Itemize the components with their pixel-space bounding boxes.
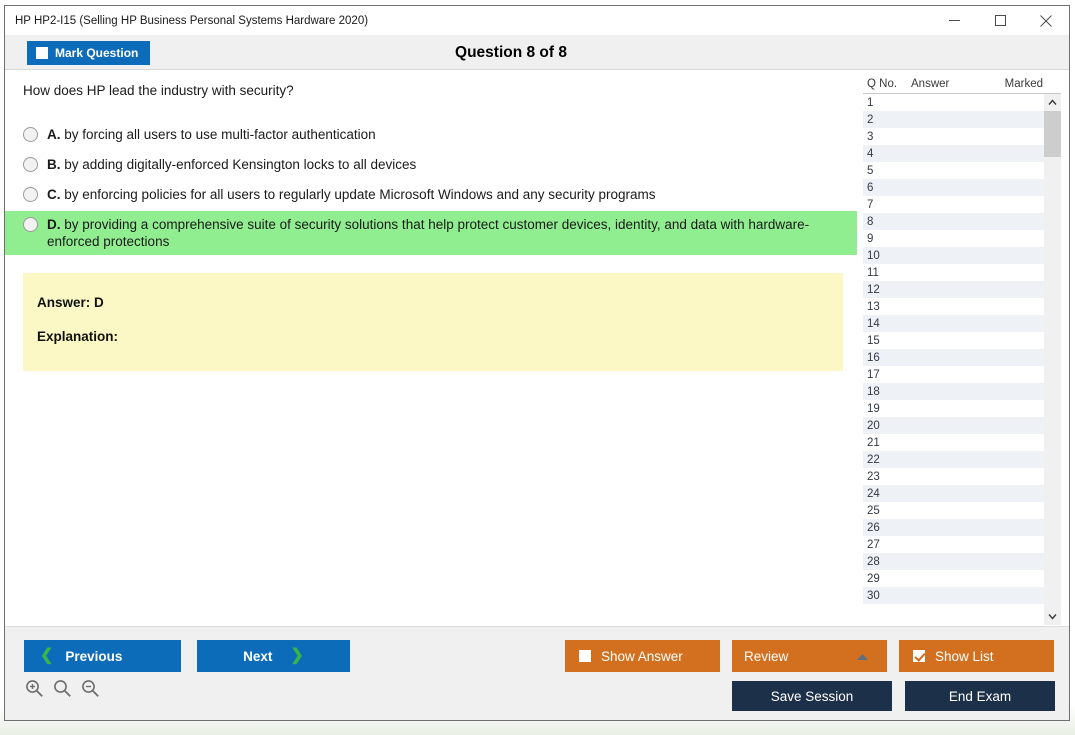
- option-radio-c[interactable]: [23, 187, 38, 202]
- chevron-up-icon: [1048, 99, 1057, 106]
- question-list-row[interactable]: 3: [863, 128, 1044, 145]
- question-list-row[interactable]: 24: [863, 485, 1044, 502]
- scrollbar-thumb[interactable]: [1044, 111, 1061, 157]
- question-list-row[interactable]: 2: [863, 111, 1044, 128]
- row-question-number: 2: [867, 114, 911, 126]
- show-answer-checkbox[interactable]: [579, 650, 591, 662]
- title-bar: HP HP2-I15 (Selling HP Business Personal…: [5, 6, 1069, 36]
- row-question-number: 3: [867, 131, 911, 143]
- question-list-row[interactable]: 4: [863, 145, 1044, 162]
- scroll-down-button[interactable]: [1044, 608, 1061, 625]
- mark-question-checkbox[interactable]: [36, 47, 48, 59]
- zoom-out-icon[interactable]: [81, 679, 100, 703]
- question-list-row[interactable]: 6: [863, 179, 1044, 196]
- zoom-reset-icon[interactable]: [53, 679, 72, 703]
- row-question-number: 13: [867, 301, 911, 313]
- row-question-number: 10: [867, 250, 911, 262]
- window-controls: [931, 6, 1069, 36]
- question-list-row[interactable]: 25: [863, 502, 1044, 519]
- option-text: C. by enforcing policies for all users t…: [47, 186, 656, 203]
- question-list-row[interactable]: 16: [863, 349, 1044, 366]
- zoom-in-icon[interactable]: [25, 679, 44, 703]
- question-list-row[interactable]: 13: [863, 298, 1044, 315]
- row-question-number: 7: [867, 199, 911, 211]
- row-question-number: 29: [867, 573, 911, 585]
- option-radio-a[interactable]: [23, 127, 38, 142]
- question-text: How does HP lead the industry with secur…: [5, 82, 857, 100]
- column-header-q-no: Q No.: [867, 78, 911, 90]
- question-list-row[interactable]: 19: [863, 400, 1044, 417]
- question-counter: Question 8 of 8: [0, 44, 1043, 62]
- row-question-number: 16: [867, 352, 911, 364]
- question-list-row[interactable]: 23: [863, 468, 1044, 485]
- close-icon: [1040, 15, 1052, 27]
- footer-toolbar: ❮ Previous Next ❯ Show Answer Review Sho…: [5, 626, 1069, 720]
- row-question-number: 25: [867, 505, 911, 517]
- end-exam-label: End Exam: [949, 689, 1011, 704]
- option-body: by enforcing policies for all users to r…: [64, 187, 655, 202]
- row-question-number: 18: [867, 386, 911, 398]
- option-row-a[interactable]: A. by forcing all users to use multi-fac…: [5, 121, 857, 151]
- question-list-row[interactable]: 1: [863, 94, 1044, 111]
- answer-panel: Answer: D Explanation:: [23, 273, 843, 371]
- question-list-row[interactable]: 21: [863, 434, 1044, 451]
- row-question-number: 8: [867, 216, 911, 228]
- question-list-row[interactable]: 7: [863, 196, 1044, 213]
- mark-question-label: Mark Question: [55, 46, 138, 60]
- row-question-number: 15: [867, 335, 911, 347]
- question-list-header: Q No. Answer Marked: [863, 76, 1061, 94]
- end-exam-button[interactable]: End Exam: [905, 681, 1055, 711]
- question-list-row[interactable]: 27: [863, 536, 1044, 553]
- row-question-number: 23: [867, 471, 911, 483]
- answer-value: Answer: D: [37, 295, 843, 310]
- question-list-row[interactable]: 12: [863, 281, 1044, 298]
- maximize-button[interactable]: [977, 6, 1023, 36]
- scrollbar-track[interactable]: [1044, 111, 1061, 608]
- question-list-body: 1234567891011121314151617181920212223242…: [863, 94, 1061, 626]
- column-header-marked: Marked: [983, 78, 1043, 90]
- question-list-row[interactable]: 30: [863, 587, 1044, 604]
- question-list-row[interactable]: 14: [863, 315, 1044, 332]
- question-list-row[interactable]: 8: [863, 213, 1044, 230]
- question-list-row[interactable]: 28: [863, 553, 1044, 570]
- chevron-right-icon: ❯: [290, 648, 303, 664]
- caret-up-icon: [856, 649, 869, 664]
- row-question-number: 21: [867, 437, 911, 449]
- close-button[interactable]: [1023, 6, 1069, 36]
- question-list-row[interactable]: 18: [863, 383, 1044, 400]
- question-list-pane: Q No. Answer Marked 12345678910111213141…: [857, 70, 1069, 626]
- row-question-number: 1: [867, 97, 911, 109]
- question-list-row[interactable]: 29: [863, 570, 1044, 587]
- review-dropdown[interactable]: Review: [732, 640, 887, 672]
- option-radio-d[interactable]: [23, 217, 38, 232]
- question-pane: How does HP lead the industry with secur…: [5, 70, 857, 626]
- row-question-number: 28: [867, 556, 911, 568]
- maximize-icon: [995, 15, 1006, 26]
- question-list-row[interactable]: 22: [863, 451, 1044, 468]
- minimize-icon: [949, 15, 960, 26]
- exam-window: HP HP2-I15 (Selling HP Business Personal…: [4, 5, 1070, 721]
- show-answer-label: Show Answer: [601, 649, 683, 664]
- options-list: A. by forcing all users to use multi-fac…: [5, 121, 857, 255]
- question-list-row[interactable]: 17: [863, 366, 1044, 383]
- show-answer-button[interactable]: Show Answer: [565, 640, 720, 672]
- mark-question-button[interactable]: Mark Question: [27, 41, 150, 65]
- chevron-down-icon: [1048, 613, 1057, 620]
- question-list-row[interactable]: 15: [863, 332, 1044, 349]
- option-radio-b[interactable]: [23, 157, 38, 172]
- option-text: D. by providing a comprehensive suite of…: [47, 216, 843, 250]
- question-list-row[interactable]: 11: [863, 264, 1044, 281]
- option-letter: C.: [47, 187, 61, 202]
- next-label: Next: [243, 649, 272, 664]
- window-title: HP HP2-I15 (Selling HP Business Personal…: [5, 15, 368, 27]
- question-list-rows[interactable]: 1234567891011121314151617181920212223242…: [863, 94, 1044, 625]
- row-question-number: 20: [867, 420, 911, 432]
- row-question-number: 6: [867, 182, 911, 194]
- question-list-row[interactable]: 9: [863, 230, 1044, 247]
- option-text: A. by forcing all users to use multi-fac…: [47, 126, 376, 143]
- zoom-controls: [25, 679, 100, 703]
- previous-button[interactable]: ❮ Previous: [24, 640, 181, 672]
- question-list-row[interactable]: 5: [863, 162, 1044, 179]
- row-question-number: 4: [867, 148, 911, 160]
- row-question-number: 26: [867, 522, 911, 534]
- option-letter: D.: [47, 217, 61, 232]
- row-question-number: 11: [867, 267, 911, 279]
- row-question-number: 19: [867, 403, 911, 415]
- row-question-number: 14: [867, 318, 911, 330]
- row-question-number: 12: [867, 284, 911, 296]
- column-header-answer: Answer: [911, 78, 983, 90]
- show-list-button[interactable]: Show List: [899, 640, 1054, 672]
- option-row-b[interactable]: B. by adding digitally-enforced Kensingt…: [5, 151, 857, 181]
- question-header-bar: Mark Question Question 8 of 8: [5, 36, 1069, 70]
- previous-label: Previous: [65, 649, 122, 664]
- review-label: Review: [744, 649, 788, 664]
- option-row-d[interactable]: D. by providing a comprehensive suite of…: [5, 211, 857, 255]
- main-body: How does HP lead the industry with secur…: [5, 70, 1069, 626]
- option-letter: A.: [47, 127, 61, 142]
- next-button[interactable]: Next ❯: [197, 640, 350, 672]
- option-letter: B.: [47, 157, 61, 172]
- explanation-label: Explanation:: [37, 329, 843, 344]
- row-question-number: 5: [867, 165, 911, 177]
- minimize-button[interactable]: [931, 6, 977, 36]
- row-question-number: 30: [867, 590, 911, 602]
- row-question-number: 24: [867, 488, 911, 500]
- show-list-checkbox[interactable]: [913, 650, 925, 662]
- option-text: B. by adding digitally-enforced Kensingt…: [47, 156, 416, 173]
- scroll-up-button[interactable]: [1044, 94, 1061, 111]
- question-list-row[interactable]: 10: [863, 247, 1044, 264]
- question-list-scrollbar[interactable]: [1044, 94, 1061, 625]
- option-row-c[interactable]: C. by enforcing policies for all users t…: [5, 181, 857, 211]
- option-body: by forcing all users to use multi-factor…: [64, 127, 375, 142]
- chevron-left-icon: ❮: [40, 648, 53, 664]
- save-session-button[interactable]: Save Session: [732, 681, 892, 711]
- save-session-label: Save Session: [771, 689, 854, 704]
- row-question-number: 27: [867, 539, 911, 551]
- row-question-number: 22: [867, 454, 911, 466]
- show-list-label: Show List: [935, 649, 994, 664]
- row-question-number: 9: [867, 233, 911, 245]
- question-list-row[interactable]: 26: [863, 519, 1044, 536]
- question-list-row[interactable]: 20: [863, 417, 1044, 434]
- row-question-number: 17: [867, 369, 911, 381]
- option-body: by adding digitally-enforced Kensington …: [64, 157, 416, 172]
- option-body: by providing a comprehensive suite of se…: [47, 217, 809, 249]
